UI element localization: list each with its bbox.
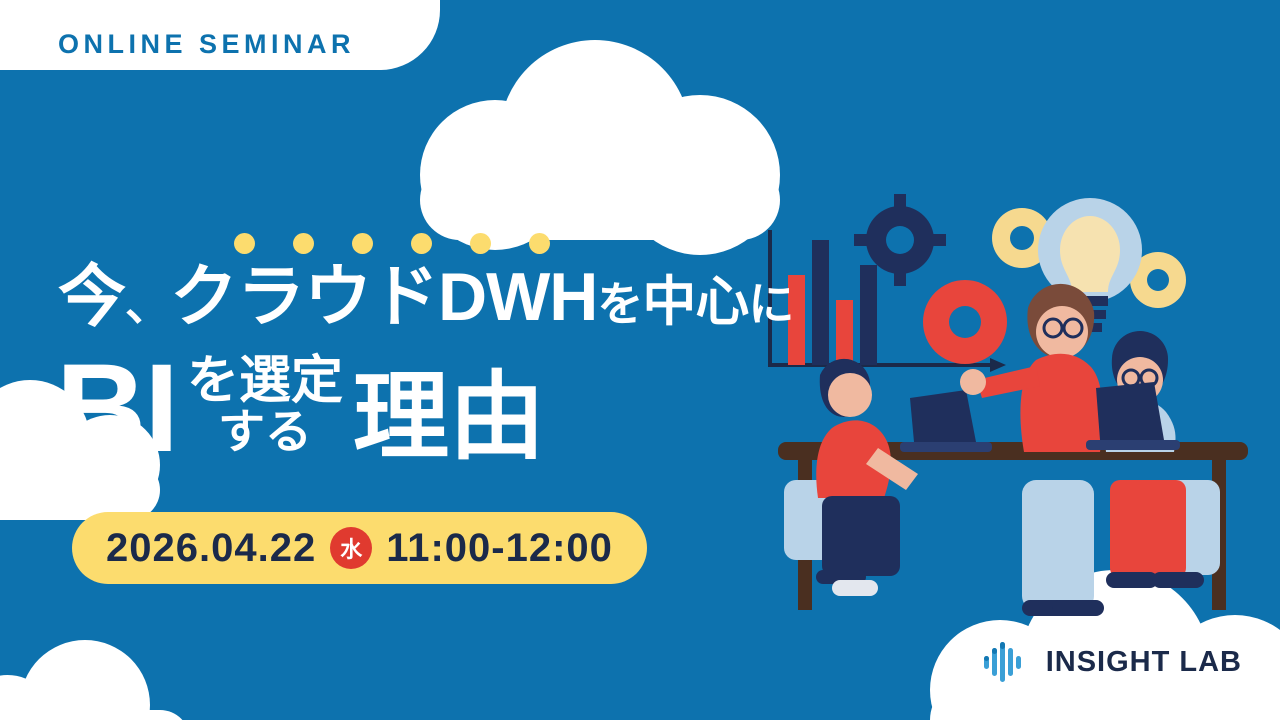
- headline-part-wo: を: [597, 278, 642, 330]
- dot: [293, 233, 314, 254]
- decorative-dots: [234, 233, 550, 254]
- headline-part-cloud-dwh: クラウドDWH: [170, 259, 597, 335]
- badge-label: ONLINE SEMINAR: [58, 29, 355, 60]
- headline-line-1: 今、クラウドDWHを中心に: [58, 263, 818, 331]
- dot: [470, 233, 491, 254]
- laptop: [900, 390, 992, 452]
- poster-canvas: ONLINE SEMINAR 今、クラウドDWHを中心に BI を選定 する 理…: [0, 0, 1280, 720]
- schedule-day-badge: 水: [330, 527, 372, 569]
- dot: [234, 233, 255, 254]
- headline-part-chushin: 中心: [642, 272, 748, 332]
- dot: [352, 233, 373, 254]
- headline-wo-sentei: を選定: [187, 355, 343, 408]
- dot: [411, 233, 432, 254]
- schedule-time: 11:00-12:00: [386, 526, 613, 571]
- brand-logo: INSIGHT LAB: [980, 636, 1242, 688]
- dot: [529, 233, 550, 254]
- illustration-team-meeting: [760, 180, 1280, 650]
- headline-part-ni: に: [748, 278, 793, 330]
- schedule-pill: 2026.04.22 水 11:00-12:00: [72, 512, 647, 584]
- headline-part-comma: 、: [125, 278, 170, 330]
- headline-stack: を選定 する: [187, 355, 343, 456]
- headline-block: 今、クラウドDWHを中心に BI を選定 する 理由: [52, 215, 812, 396]
- headline-line-2: BI を選定 する 理由: [56, 353, 816, 466]
- headline-part-ima: 今: [58, 259, 125, 335]
- cloud-top: [420, 40, 760, 200]
- headline-bi: BI: [56, 353, 177, 466]
- schedule-date: 2026.04.22: [106, 526, 316, 571]
- online-seminar-badge: ONLINE SEMINAR: [0, 0, 440, 70]
- headline-riyu: 理由: [353, 370, 545, 466]
- insight-lab-mark-icon: [980, 636, 1032, 688]
- gear-icon: [923, 280, 1007, 364]
- headline-suru: する: [218, 408, 312, 456]
- brand-logo-text: INSIGHT LAB: [1046, 646, 1242, 679]
- cloud-bottom-left: [0, 640, 220, 720]
